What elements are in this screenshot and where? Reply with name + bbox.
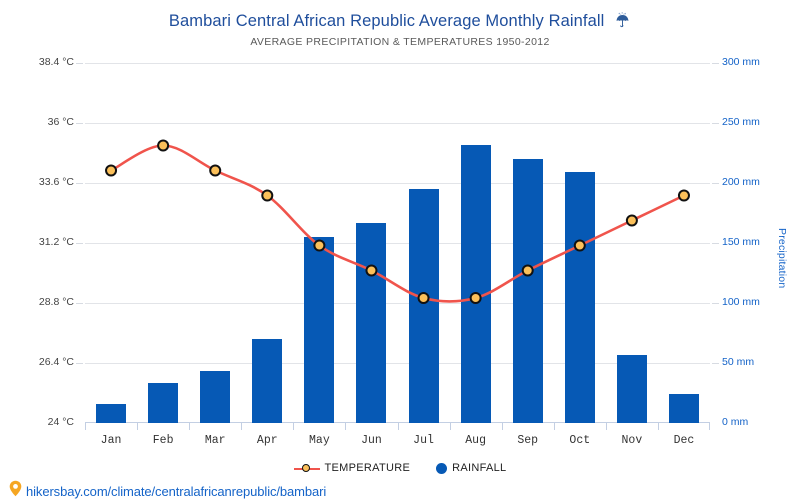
y-axis-left-tick-label: 26.4 °C <box>12 356 74 368</box>
x-axis-tick <box>85 422 86 430</box>
page-subtitle: AVERAGE PRECIPITATION & TEMPERATURES 195… <box>0 36 800 48</box>
bar-may[interactable] <box>304 237 334 423</box>
x-axis-tick <box>554 422 555 430</box>
axis-tick <box>76 303 83 304</box>
gridline <box>85 183 710 184</box>
y-axis-right-tick-label: 300 mm <box>722 56 760 68</box>
gridline <box>85 123 710 124</box>
legend-label-rainfall: RAINFALL <box>452 462 506 474</box>
y-axis-right-tick-label: 100 mm <box>722 296 760 308</box>
x-axis-label-jun: Jun <box>341 434 401 447</box>
chart-legend: TEMPERATURE RAINFALL <box>0 462 800 474</box>
axis-tick <box>76 63 83 64</box>
x-axis-tick <box>658 422 659 430</box>
page-title: Bambari Central African Republic Average… <box>0 12 800 34</box>
axis-tick <box>712 123 719 124</box>
y-axis-right-tick-label: 150 mm <box>722 236 760 248</box>
legend-item-rainfall[interactable]: RAINFALL <box>436 462 506 474</box>
x-axis-label-nov: Nov <box>602 434 662 447</box>
x-axis-label-jan: Jan <box>81 434 141 447</box>
y-axis-left-tick-label: 36 °C <box>12 116 74 128</box>
y-axis-right-tick-label: 0 mm <box>722 416 748 428</box>
y-axis-left-tick-label: 38.4 °C <box>12 56 74 68</box>
x-axis-tick <box>241 422 242 430</box>
bar-oct[interactable] <box>565 172 595 423</box>
gridline <box>85 303 710 304</box>
gridline <box>85 243 710 244</box>
bar-jan[interactable] <box>96 404 126 423</box>
axis-tick <box>712 63 719 64</box>
bar-dec[interactable] <box>669 394 699 423</box>
x-axis-tick <box>398 422 399 430</box>
axis-tick <box>76 363 83 364</box>
axis-tick <box>76 183 83 184</box>
circle-icon <box>436 463 447 474</box>
axis-tick <box>76 123 83 124</box>
page-title-text: Bambari Central African Republic Average… <box>169 12 605 30</box>
x-axis-tick <box>450 422 451 430</box>
legend-item-temperature[interactable]: TEMPERATURE <box>294 462 411 474</box>
y-axis-left-tick-label: 33.6 °C <box>12 176 74 188</box>
bar-sep[interactable] <box>513 159 543 423</box>
footer-source[interactable]: hikersbay.com/climate/centralafricanrepu… <box>8 480 326 502</box>
gridline <box>85 63 710 64</box>
source-url: hikersbay.com/climate/centralafricanrepu… <box>26 484 326 499</box>
umbrella-rain-icon <box>614 12 631 34</box>
bar-jun[interactable] <box>356 223 386 423</box>
bar-feb[interactable] <box>148 383 178 423</box>
y-axis-right-tick-label: 250 mm <box>722 116 760 128</box>
x-axis-label-dec: Dec <box>654 434 714 447</box>
y-axis-left-tick-label: 24 °C <box>12 416 74 428</box>
x-axis-tick <box>502 422 503 430</box>
x-axis-label-apr: Apr <box>237 434 297 447</box>
x-axis-tick <box>709 422 710 430</box>
y-axis-right-tick-label: 50 mm <box>722 356 754 368</box>
bar-aug[interactable] <box>461 145 491 423</box>
y-axis-right-title: Precipitation <box>776 228 788 288</box>
bar-nov[interactable] <box>617 355 647 423</box>
y-axis-left-tick-label: 28.8 °C <box>12 296 74 308</box>
legend-label-temperature: TEMPERATURE <box>325 462 411 474</box>
bar-apr[interactable] <box>252 339 282 423</box>
line-marker-icon <box>294 463 320 474</box>
x-axis-label-sep: Sep <box>498 434 558 447</box>
x-axis-label-mar: Mar <box>185 434 245 447</box>
x-axis-label-may: May <box>289 434 349 447</box>
x-axis-tick <box>293 422 294 430</box>
axis-tick <box>712 363 719 364</box>
location-pin-icon <box>8 480 23 502</box>
x-axis-tick <box>189 422 190 430</box>
x-axis-tick <box>345 422 346 430</box>
x-axis-label-feb: Feb <box>133 434 193 447</box>
x-axis-label-aug: Aug <box>446 434 506 447</box>
axis-tick <box>76 243 83 244</box>
x-axis-tick <box>137 422 138 430</box>
chart-plot-area <box>85 63 710 423</box>
x-axis-label-oct: Oct <box>550 434 610 447</box>
y-axis-left-tick-label: 31.2 °C <box>12 236 74 248</box>
climate-chart-page: Bambari Central African Republic Average… <box>0 0 800 500</box>
axis-tick <box>712 303 719 304</box>
bar-jul[interactable] <box>409 189 439 423</box>
x-axis-tick <box>606 422 607 430</box>
axis-tick <box>712 243 719 244</box>
y-axis-right-tick-label: 200 mm <box>722 176 760 188</box>
x-axis-label-jul: Jul <box>394 434 454 447</box>
axis-tick <box>712 183 719 184</box>
bar-mar[interactable] <box>200 371 230 423</box>
